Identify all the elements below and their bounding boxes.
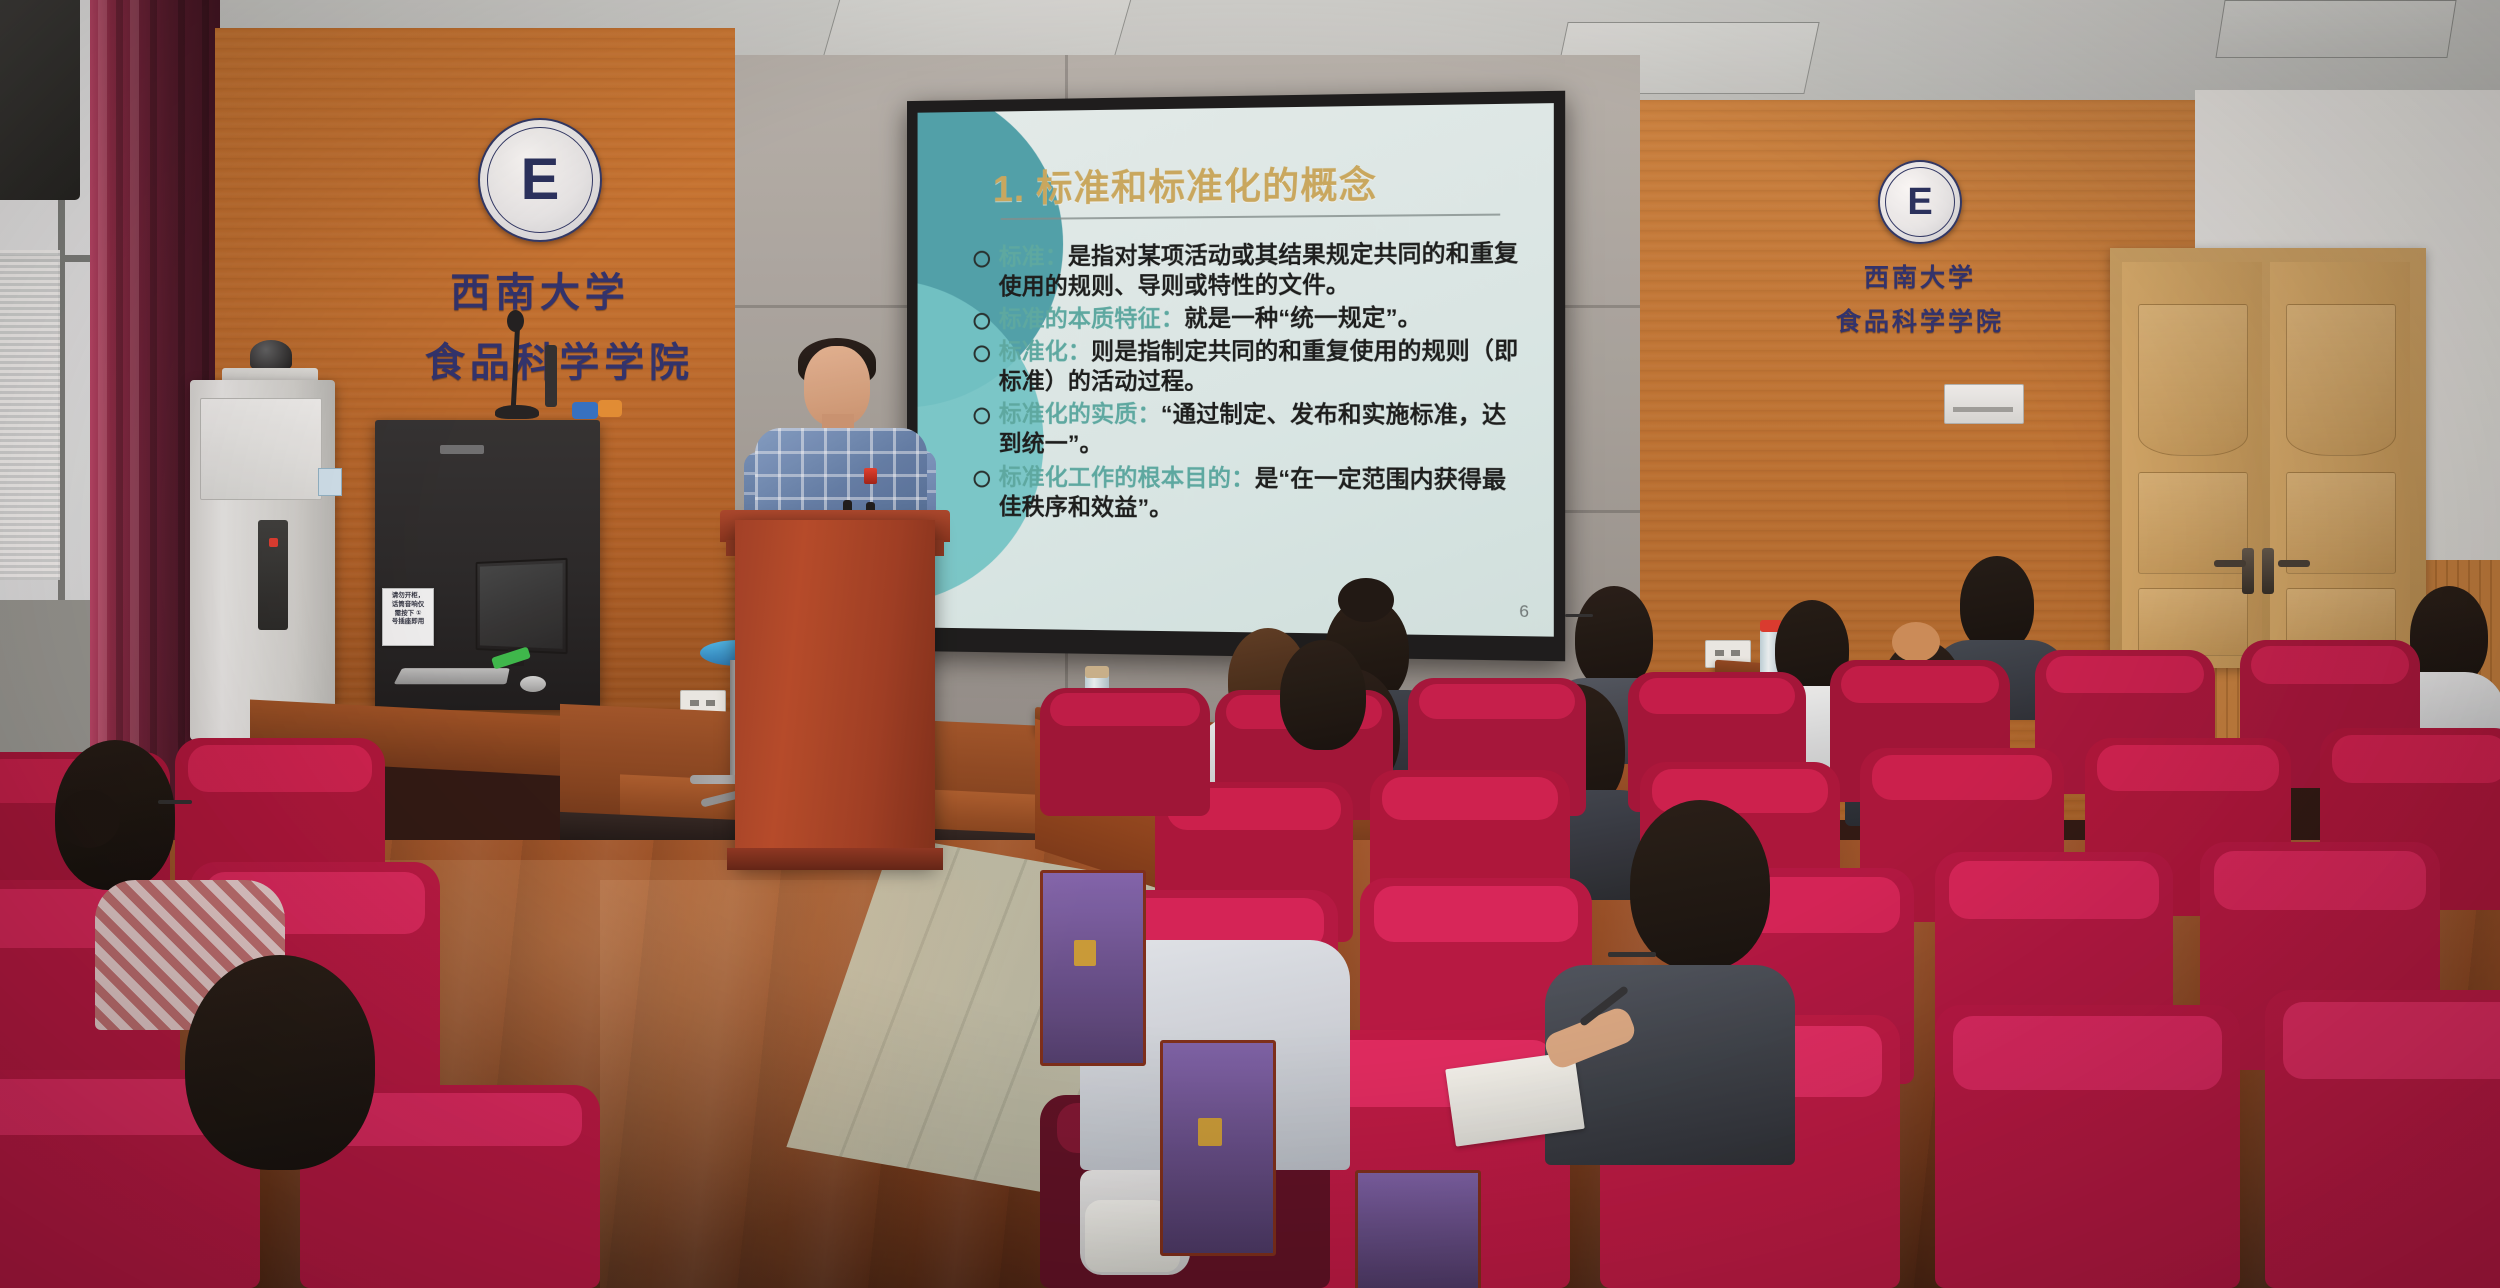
signage-left-line1: 西南大学 [425, 260, 655, 318]
audience-head [2410, 586, 2488, 686]
notice-sign: 请勿开柜， 话筒音响仅 需按下 ① 号插座即用 [382, 588, 434, 646]
bullet-body: 是指对某项活动或其结果规定共同的和重复使用的规则、导则或特性的文件。 [999, 240, 1519, 299]
cabinet-door[interactable] [200, 398, 322, 500]
auditorium-seat[interactable] [2265, 990, 2500, 1288]
slide-bullet-item: 标准化工作的根本目的：是“在一定范围内获得最佳秩序和效益”。 [974, 461, 1529, 525]
cabinet-control-panel[interactable] [258, 520, 288, 630]
window-blind [0, 250, 60, 580]
auditorium-seat[interactable] [1040, 688, 1210, 816]
audience-head [1630, 800, 1770, 970]
audience-head [1960, 556, 2034, 652]
bullet-ring-icon [974, 470, 990, 487]
security-camera-icon [250, 340, 292, 370]
desk-clutter-orange [598, 400, 622, 417]
cabinet-handle[interactable] [440, 445, 484, 454]
notice-line: 号插座即用 [385, 618, 431, 627]
entry-door[interactable] [2110, 248, 2426, 668]
seat-latch-icon [1074, 940, 1096, 966]
audience-head [1280, 640, 1366, 750]
slide-bullet-item: 标准化的实质：“通过制定、发布和实施标准，达到统一”。 [974, 399, 1529, 461]
signage-right-line1: 西南大学 [1825, 258, 2015, 294]
microphone-base [495, 405, 539, 419]
university-emblem-icon: E [1878, 160, 1962, 244]
auditorium-seat[interactable] [1935, 1005, 2240, 1288]
seat-side-panel [1160, 1040, 1276, 1256]
av-keyboard[interactable] [394, 668, 510, 684]
ceiling-access-panel [2215, 0, 2456, 58]
slide-bullet-item: 标准化：则是指制定共同的和重复使用的规则（即标准）的活动过程。 [974, 336, 1529, 397]
bullet-key: 标准化： [999, 339, 1091, 365]
seat-side-panel [1040, 870, 1146, 1066]
presenter-badge [864, 468, 877, 484]
signage-right: E 西南大学 食品科学学院 [1825, 160, 2015, 338]
podium [735, 520, 935, 865]
hair-bun [1892, 622, 1940, 662]
signage-left-line2: 食品科学学院 [425, 330, 655, 388]
av-mouse[interactable] [520, 676, 546, 692]
door-handle-right[interactable] [2262, 548, 2274, 594]
bullet-key: 标准化的实质： [999, 401, 1161, 427]
microphone-head-icon [507, 310, 524, 332]
slide-bullet-item: 标准的本质特征：就是一种“统一规定”。 [974, 302, 1529, 334]
wall-speaker [0, 0, 80, 200]
hair-bun [1338, 578, 1394, 622]
slide-title-rule [1001, 214, 1501, 220]
slide: 1. 标准和标准化的概念 标准：是指对某项活动或其结果规定共同的和重复使用的规则… [918, 103, 1554, 637]
bullet-key: 标准的本质特征： [999, 305, 1184, 331]
slide-title: 1. 标准和标准化的概念 [993, 154, 1377, 212]
cabinet-label [318, 468, 342, 496]
door-leaf-left[interactable] [2122, 262, 2262, 668]
bullet-body: 就是一种“统一规定”。 [1184, 304, 1421, 331]
microphone-secondary-icon [545, 345, 557, 407]
hair-bun [58, 790, 120, 848]
av-monitor [476, 558, 568, 654]
bullet-ring-icon [974, 346, 990, 363]
desk-clutter-blue [572, 402, 598, 419]
signage-left: E 西南大学 食品科学学院 [425, 118, 655, 388]
bullet-ring-icon [974, 313, 990, 330]
emblem-mark: E [521, 151, 560, 209]
bullet-key: 标准： [999, 243, 1068, 269]
bullet-ring-icon [974, 408, 990, 425]
door-handle-left[interactable] [2242, 548, 2254, 594]
audience-shoulders [1545, 965, 1795, 1165]
door-lever-icon[interactable] [2214, 560, 2246, 567]
glasses-icon [1608, 952, 1656, 957]
door-leaf-right[interactable] [2270, 262, 2410, 668]
emblem-mark: E [1907, 183, 1932, 221]
notice-line: 请勿开柜， [385, 592, 431, 601]
projector-screen: 1. 标准和标准化的概念 标准：是指对某项活动或其结果规定共同的和重复使用的规则… [907, 91, 1565, 662]
slide-bullet-list: 标准：是指对某项活动或其结果规定共同的和重复使用的规则、导则或特性的文件。 标准… [974, 238, 1529, 529]
slide-bullet-item: 标准：是指对某项活动或其结果规定共同的和重复使用的规则、导则或特性的文件。 [974, 238, 1529, 302]
notice-line: 话筒音响仅 [385, 601, 431, 610]
bullet-ring-icon [974, 251, 990, 268]
seat-side-panel [1355, 1170, 1481, 1288]
glasses-icon [1565, 614, 1593, 617]
audience-head [185, 955, 375, 1170]
signage-right-line2: 食品科学学院 [1825, 302, 2015, 338]
power-led-icon [269, 538, 278, 547]
glasses-icon [158, 800, 192, 804]
door-lever-icon[interactable] [2278, 560, 2310, 567]
podium-base [727, 848, 943, 870]
seat-latch-icon [1198, 1118, 1222, 1146]
bullet-key: 标准化工作的根本目的： [999, 463, 1255, 490]
notice-line: 需按下 ① [385, 610, 431, 619]
thermos-cap [1085, 666, 1109, 678]
wall-control-panel[interactable] [1944, 384, 2024, 424]
university-emblem-icon: E [478, 118, 602, 242]
lecture-hall-scene: E 西南大学 食品科学学院 E 西南大学 食品科学学院 1. 标准和标准化的概念… [0, 0, 2500, 1288]
slide-page-number: 6 [1519, 602, 1529, 622]
